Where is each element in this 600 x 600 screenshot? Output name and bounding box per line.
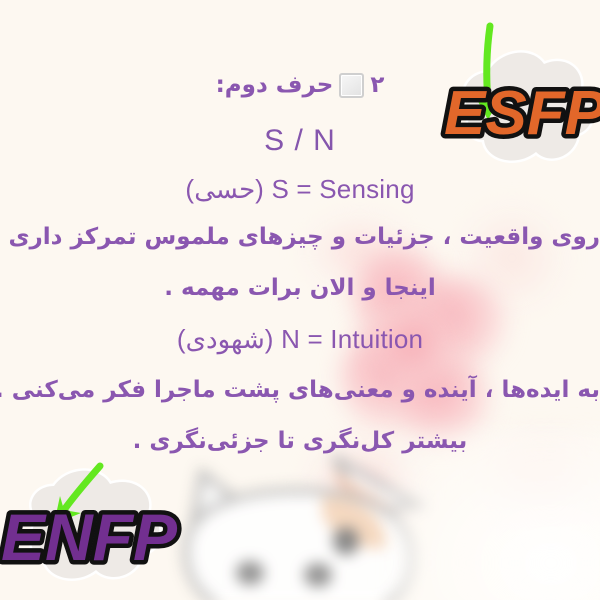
intuition-description-1: به ایده‌ها ، آینده و معنی‌های پشت ماجرا … [0, 377, 600, 403]
intuition-description-2: بیشتر کل‌نگری تا جزئی‌نگری . [0, 428, 600, 454]
sensing-description-1: روی واقعیت ، جزئیات و چیزهای ملموس تمرکز… [0, 224, 600, 250]
enfp-label: ENFP [1, 500, 178, 574]
sticker-enfp: ENFP [0, 452, 184, 600]
pair-label-text: S / N [264, 124, 336, 157]
slide-canvas: ۲ حرف دوم: S / N S = Sensing (حسی) روی و… [0, 0, 600, 600]
white-square-icon [339, 73, 364, 98]
sticker-esfp: ESFP [440, 16, 600, 186]
intuition-definition: N = Intuition (شهودی) [0, 324, 600, 355]
heading-number: ۲ [370, 72, 384, 98]
intuition-definition-text: N = Intuition (شهودی) [177, 324, 423, 354]
sensing-description-2: اینجا و الان برات مهمه . [0, 275, 600, 301]
heading-text: حرف دوم: [216, 72, 334, 98]
sensing-definition-text: S = Sensing (حسی) [185, 174, 414, 204]
esfp-label: ESFP [444, 79, 600, 148]
